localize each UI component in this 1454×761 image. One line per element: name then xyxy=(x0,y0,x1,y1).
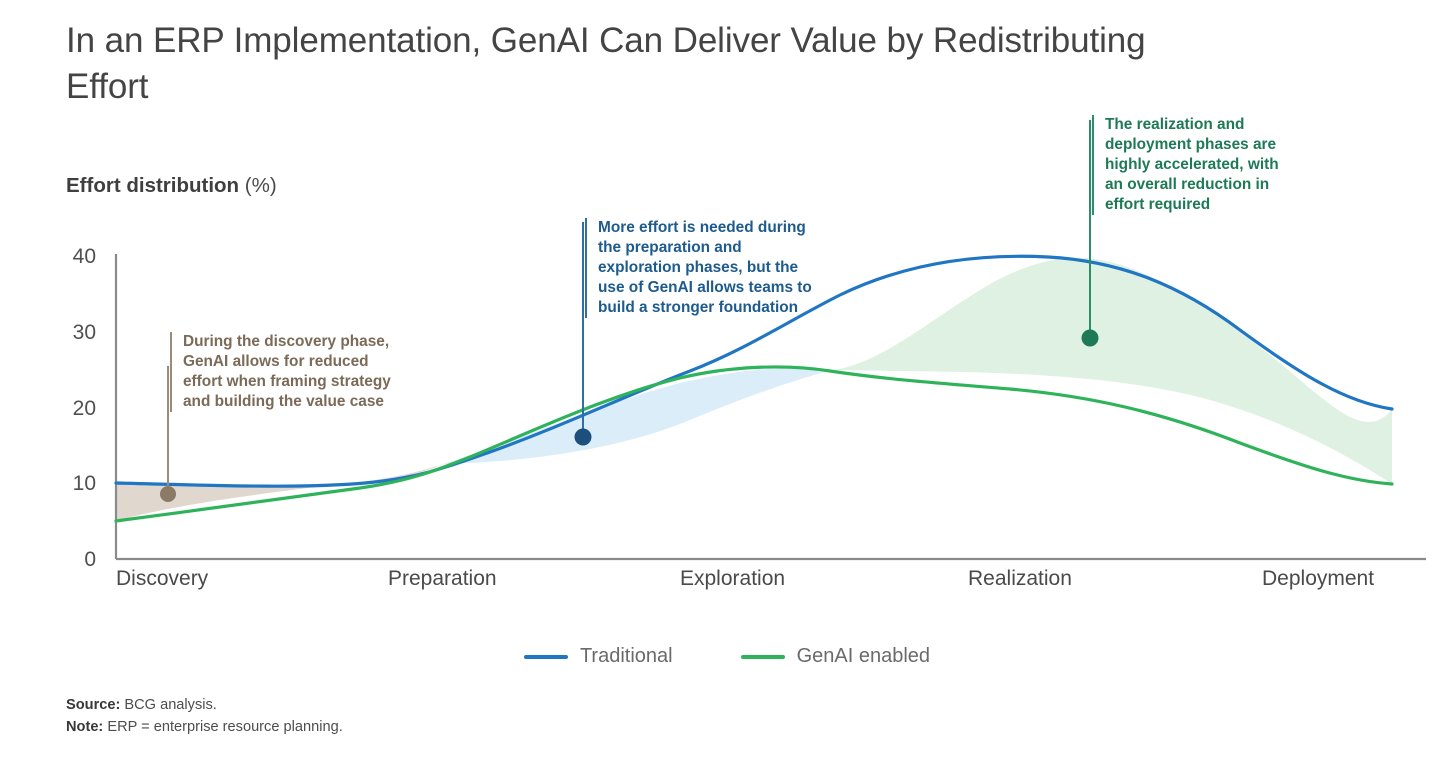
annotation-marker-realization-deployment xyxy=(1082,330,1099,347)
legend-item-genai-enabled[interactable]: GenAI enabled xyxy=(741,645,930,668)
annotation-realization-deployment: The realization and deployment phases ar… xyxy=(1092,115,1332,215)
x-tick-discovery: Discovery xyxy=(116,568,208,589)
footer-note-label: Note: xyxy=(66,719,103,735)
y-tick-20: 20 xyxy=(44,398,96,419)
y-tick-30: 30 xyxy=(44,322,96,343)
annotation-marker-preparation-exploration xyxy=(575,429,592,446)
y-tick-0: 0 xyxy=(44,549,96,570)
chart-subtitle-unit: (%) xyxy=(245,174,277,197)
legend-swatch-genai-enabled xyxy=(741,655,785,659)
footer-note-line: Note: ERP = enterprise resource planning… xyxy=(66,716,343,738)
y-tick-40: 40 xyxy=(44,246,96,267)
x-tick-deployment: Deployment xyxy=(1262,568,1374,589)
y-tick-10: 10 xyxy=(44,473,96,494)
chart-legend: Traditional GenAI enabled xyxy=(0,645,1454,668)
chart-footer: Source: BCG analysis. Note: ERP = enterp… xyxy=(66,694,343,738)
footer-source-label: Source: xyxy=(66,697,120,713)
annotation-discovery: During the discovery phase, GenAI allows… xyxy=(170,332,438,412)
x-tick-realization: Realization xyxy=(968,568,1072,589)
footer-source-text: BCG analysis. xyxy=(120,697,217,713)
area-green-reduction xyxy=(833,258,1392,484)
annotation-preparation-exploration: More effort is needed during the prepara… xyxy=(585,218,865,318)
area-blue-more-effort xyxy=(443,368,833,464)
legend-item-traditional[interactable]: Traditional xyxy=(524,645,673,668)
footer-source-line: Source: BCG analysis. xyxy=(66,694,343,716)
x-tick-preparation: Preparation xyxy=(388,568,497,589)
chart-subtitle-main: Effort distribution xyxy=(66,174,239,197)
legend-label-traditional: Traditional xyxy=(580,645,673,668)
area-taupe-reduction xyxy=(116,464,443,521)
annotation-marker-discovery xyxy=(160,486,176,502)
legend-label-genai-enabled: GenAI enabled xyxy=(797,645,930,668)
page-title: In an ERP Implementation, GenAI Can Deli… xyxy=(66,18,1216,109)
chart-subtitle: Effort distribution (%) xyxy=(66,174,277,198)
legend-swatch-traditional xyxy=(524,655,568,659)
footer-note-text: ERP = enterprise resource planning. xyxy=(103,719,342,735)
x-tick-exploration: Exploration xyxy=(680,568,785,589)
